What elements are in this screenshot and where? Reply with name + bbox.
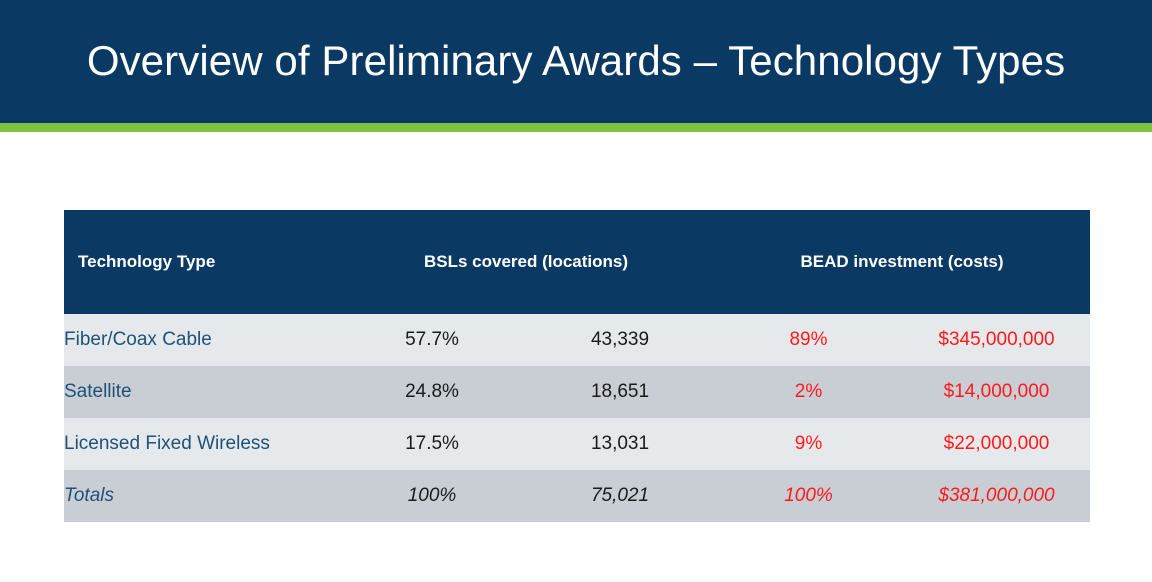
table-row: Licensed Fixed Wireless 17.5% 13,031 9% … <box>64 418 1090 470</box>
cell-bead-percent: 9% <box>714 418 903 470</box>
cell-bsl-locations: 43,339 <box>526 314 714 366</box>
table-row-totals: Totals 100% 75,021 100% $381,000,000 <box>64 470 1090 522</box>
page-title: Overview of Preliminary Awards – Technol… <box>87 38 1065 84</box>
cell-bsl-locations: 18,651 <box>526 366 714 418</box>
cell-bead-cost: $345,000,000 <box>903 314 1090 366</box>
cell-bsl-locations: 13,031 <box>526 418 714 470</box>
cell-technology: Satellite <box>64 366 338 418</box>
cell-technology: Fiber/Coax Cable <box>64 314 338 366</box>
cell-bsl-percent: 17.5% <box>338 418 526 470</box>
cell-bead-cost: $381,000,000 <box>903 470 1090 522</box>
cell-technology: Licensed Fixed Wireless <box>64 418 338 470</box>
cell-technology: Totals <box>64 470 338 522</box>
cell-bsl-percent: 100% <box>338 470 526 522</box>
cell-bead-percent: 2% <box>714 366 903 418</box>
column-header-bsls-covered: BSLs covered (locations) <box>338 210 714 314</box>
cell-bead-cost: $14,000,000 <box>903 366 1090 418</box>
cell-bead-percent: 100% <box>714 470 903 522</box>
table-body: Fiber/Coax Cable 57.7% 43,339 89% $345,0… <box>64 314 1090 522</box>
table-row: Fiber/Coax Cable 57.7% 43,339 89% $345,0… <box>64 314 1090 366</box>
cell-bead-percent: 89% <box>714 314 903 366</box>
cell-bsl-locations: 75,021 <box>526 470 714 522</box>
green-accent-bar <box>0 123 1152 132</box>
column-header-technology-type: Technology Type <box>64 210 338 314</box>
table-header-row: Technology Type BSLs covered (locations)… <box>64 210 1090 314</box>
cell-bsl-percent: 24.8% <box>338 366 526 418</box>
title-banner: Overview of Preliminary Awards – Technol… <box>0 0 1152 123</box>
technology-types-table: Technology Type BSLs covered (locations)… <box>64 210 1090 522</box>
awards-table-container: Technology Type BSLs covered (locations)… <box>64 210 1090 522</box>
table-row: Satellite 24.8% 18,651 2% $14,000,000 <box>64 366 1090 418</box>
table-header: Technology Type BSLs covered (locations)… <box>64 210 1090 314</box>
cell-bsl-percent: 57.7% <box>338 314 526 366</box>
column-header-bead-investment: BEAD investment (costs) <box>714 210 1090 314</box>
cell-bead-cost: $22,000,000 <box>903 418 1090 470</box>
